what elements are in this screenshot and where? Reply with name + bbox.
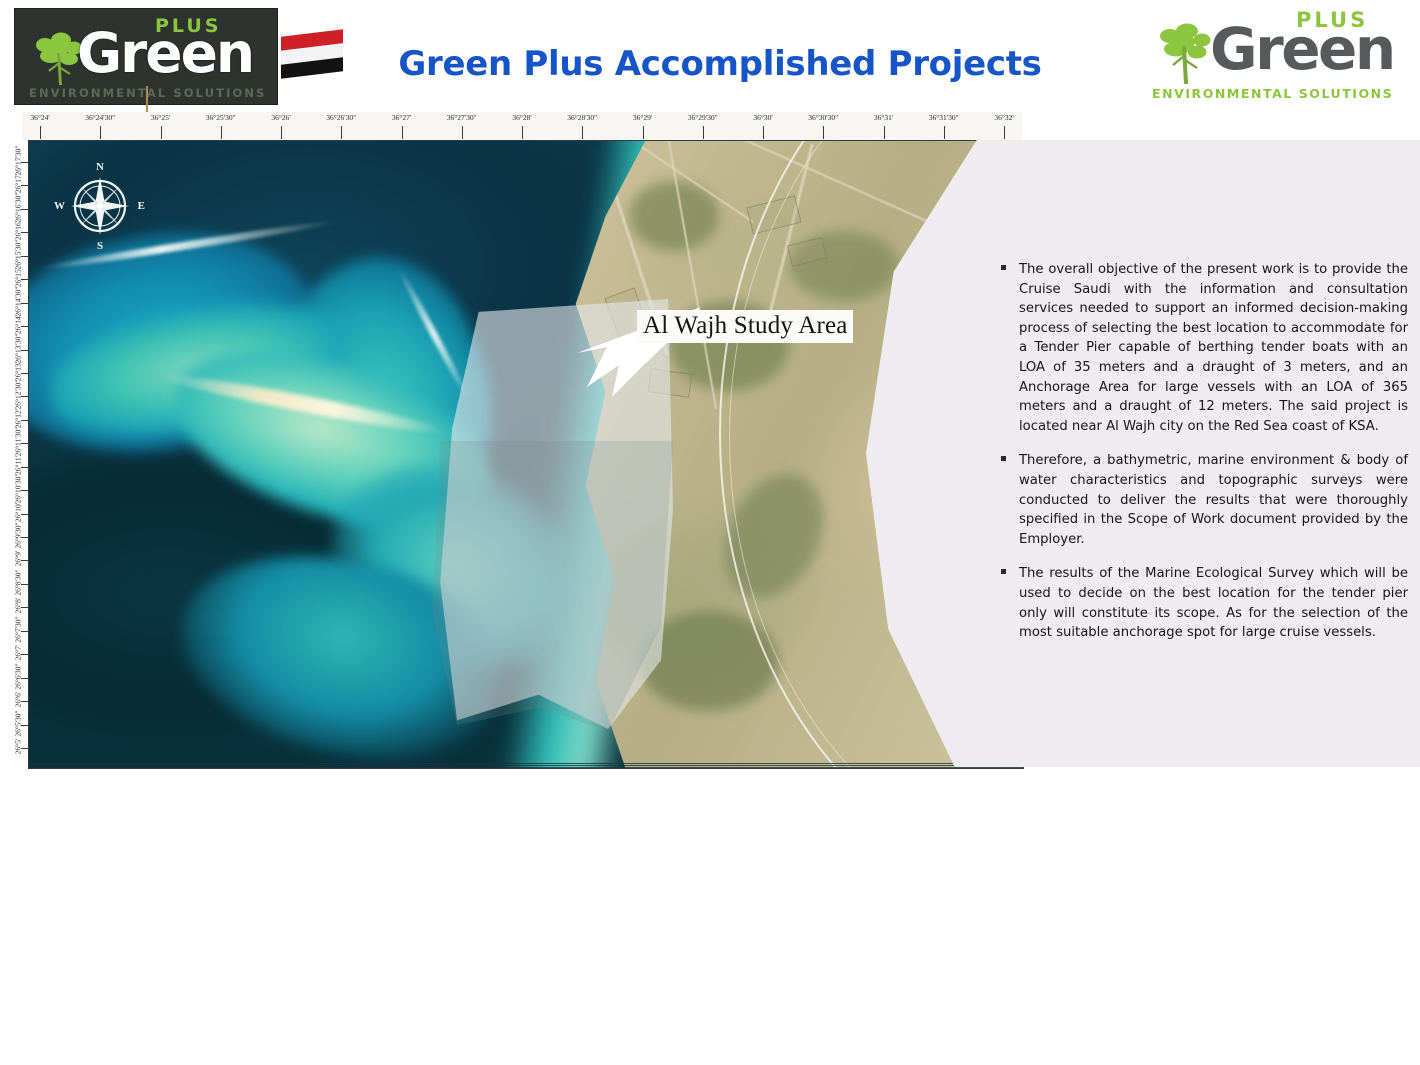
longitude-tick-label: 36°27'30" <box>447 113 477 122</box>
compass-east-label: E <box>138 200 145 212</box>
longitude-tick-mark <box>763 126 764 139</box>
slide-body: 36°24'36°24'30"36°25'36°25'30"36°26'36°2… <box>0 112 1420 772</box>
longitude-tick-label: 36°24' <box>30 113 49 122</box>
longitude-tick-mark <box>643 126 644 139</box>
longitude-tick-mark <box>703 126 704 139</box>
latitude-axis: 26°17'30"26°17'26°16'30"26°16'26°15'30"2… <box>4 140 30 770</box>
longitude-tick-mark <box>582 126 583 139</box>
logo-right-brand-text: Green <box>1210 11 1394 87</box>
flag-pole <box>146 86 148 112</box>
longitude-tick-mark <box>100 126 101 139</box>
compass-west-label: W <box>54 200 65 212</box>
longitude-tick-mark <box>884 126 885 139</box>
egypt-flag-icon <box>281 29 343 79</box>
longitude-tick-mark <box>161 126 162 139</box>
compass-north-label: N <box>96 161 104 173</box>
bullet-icon <box>1001 569 1006 574</box>
logo-right-tagline: ENVIRONMENTAL SOLUTIONS <box>1152 86 1404 101</box>
logo-green-plus-right: PLUS Green ENVIRONMENTAL SOLUTIONS <box>1148 6 1404 106</box>
info-paragraph-text: The overall objective of the present wor… <box>1019 262 1408 434</box>
latitude-tick-label: 26°5' <box>14 719 23 775</box>
longitude-tick-label: 36°27' <box>392 113 411 122</box>
tree-icon <box>1152 20 1218 86</box>
map-bottom-border <box>29 763 1023 768</box>
longitude-tick-mark <box>221 126 222 139</box>
longitude-tick-label: 36°29' <box>633 113 652 122</box>
longitude-tick-label: 36°28'30" <box>567 113 597 122</box>
longitude-tick-label: 36°25'30" <box>206 113 236 122</box>
study-area-label: Al Wajh Study Area <box>637 310 853 343</box>
longitude-tick-mark <box>944 126 945 139</box>
longitude-tick-label: 36°24'30" <box>85 113 115 122</box>
bullet-icon <box>1001 265 1006 270</box>
info-panel-text: The overall objective of the present wor… <box>1000 260 1408 658</box>
info-paragraph: Therefore, a bathymetric, marine environ… <box>1000 451 1408 549</box>
longitude-tick-mark <box>823 126 824 139</box>
info-paragraph: The overall objective of the present wor… <box>1000 260 1408 436</box>
longitude-tick-label: 36°32' <box>994 113 1013 122</box>
info-paragraph: The results of the Marine Ecological Sur… <box>1000 564 1408 642</box>
longitude-tick-label: 36°25' <box>151 113 170 122</box>
page-title: Green Plus Accomplished Projects <box>360 44 1080 84</box>
longitude-tick-label: 36°26' <box>271 113 290 122</box>
logo-left-tagline: ENVIRONMENTAL SOLUTIONS <box>29 86 269 100</box>
longitude-tick-mark <box>40 126 41 139</box>
longitude-tick-label: 36°30' <box>753 113 772 122</box>
longitude-tick-mark <box>1004 126 1005 139</box>
longitude-tick-mark <box>281 126 282 139</box>
longitude-tick-label: 36°29'30" <box>688 113 718 122</box>
longitude-tick-mark <box>522 126 523 139</box>
logo-left-brand-text: Green <box>77 18 277 88</box>
longitude-axis: 36°24'36°24'30"36°25'36°25'30"36°26'36°2… <box>22 112 1022 140</box>
bullet-icon <box>1001 456 1006 461</box>
longitude-tick-label: 36°26'30" <box>326 113 356 122</box>
longitude-tick-label: 36°31' <box>874 113 893 122</box>
longitude-tick-mark <box>462 126 463 139</box>
compass-south-label: S <box>97 240 103 252</box>
longitude-tick-label: 36°28' <box>512 113 531 122</box>
longitude-tick-label: 36°30'30" <box>808 113 838 122</box>
longitude-tick-label: 36°31'30" <box>929 113 959 122</box>
info-paragraph-text: The results of the Marine Ecological Sur… <box>1019 566 1408 640</box>
longitude-tick-mark <box>402 126 403 139</box>
compass-rose-icon: N E S W <box>57 163 143 249</box>
info-paragraph-text: Therefore, a bathymetric, marine environ… <box>1019 453 1408 546</box>
longitude-tick-mark <box>341 126 342 139</box>
slide-header: PLUS Green ENVIRONMENTAL SOLUTIONS Green… <box>0 0 1420 112</box>
